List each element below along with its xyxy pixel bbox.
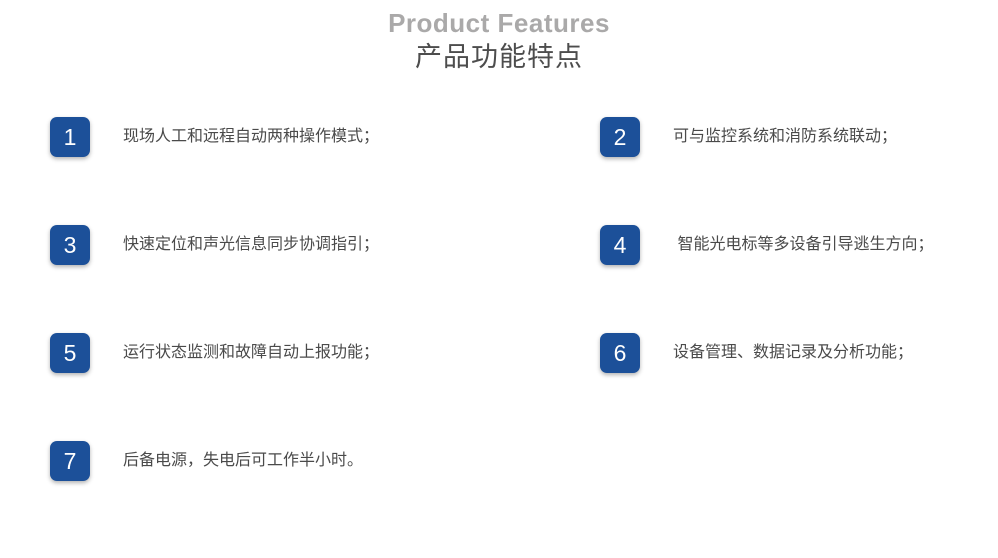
page-title-english: Product Features (0, 8, 998, 38)
page-title-chinese: 产品功能特点 (0, 38, 998, 76)
feature-item-5: 5 运行状态监测和故障自动上报功能； (50, 333, 570, 373)
feature-item-6: 6 设备管理、数据记录及分析功能； (600, 333, 980, 373)
feature-item-7: 7 后备电源，失电后可工作半小时。 (50, 441, 570, 481)
feature-text-6: 设备管理、数据记录及分析功能； (673, 341, 913, 365)
feature-item-2: 2 可与监控系统和消防系统联动； (600, 117, 980, 157)
feature-number-badge-7: 7 (50, 441, 90, 481)
feature-number-badge-3: 3 (50, 225, 90, 265)
feature-text-4: 智能光电标等多设备引导逃生方向； (673, 233, 933, 257)
feature-text-2: 可与监控系统和消防系统联动； (673, 125, 897, 149)
feature-item-3: 3 快速定位和声光信息同步协调指引； (50, 225, 570, 265)
feature-item-4: 4 智能光电标等多设备引导逃生方向； (600, 225, 980, 265)
feature-text-3: 快速定位和声光信息同步协调指引； (123, 233, 379, 257)
feature-number-badge-1: 1 (50, 117, 90, 157)
feature-number-badge-5: 5 (50, 333, 90, 373)
feature-text-7: 后备电源，失电后可工作半小时。 (123, 449, 363, 473)
feature-text-1: 现场人工和远程自动两种操作模式； (123, 125, 379, 149)
feature-text-5: 运行状态监测和故障自动上报功能； (123, 341, 379, 365)
feature-number-badge-4: 4 (600, 225, 640, 265)
product-features-page: Product Features 产品功能特点 1 现场人工和远程自动两种操作模… (0, 0, 998, 558)
page-header: Product Features 产品功能特点 (0, 8, 998, 76)
feature-item-1: 1 现场人工和远程自动两种操作模式； (50, 117, 570, 157)
feature-number-badge-6: 6 (600, 333, 640, 373)
feature-list: 1 现场人工和远程自动两种操作模式； 2 可与监控系统和消防系统联动； 3 快速… (0, 107, 998, 547)
feature-number-badge-2: 2 (600, 117, 640, 157)
